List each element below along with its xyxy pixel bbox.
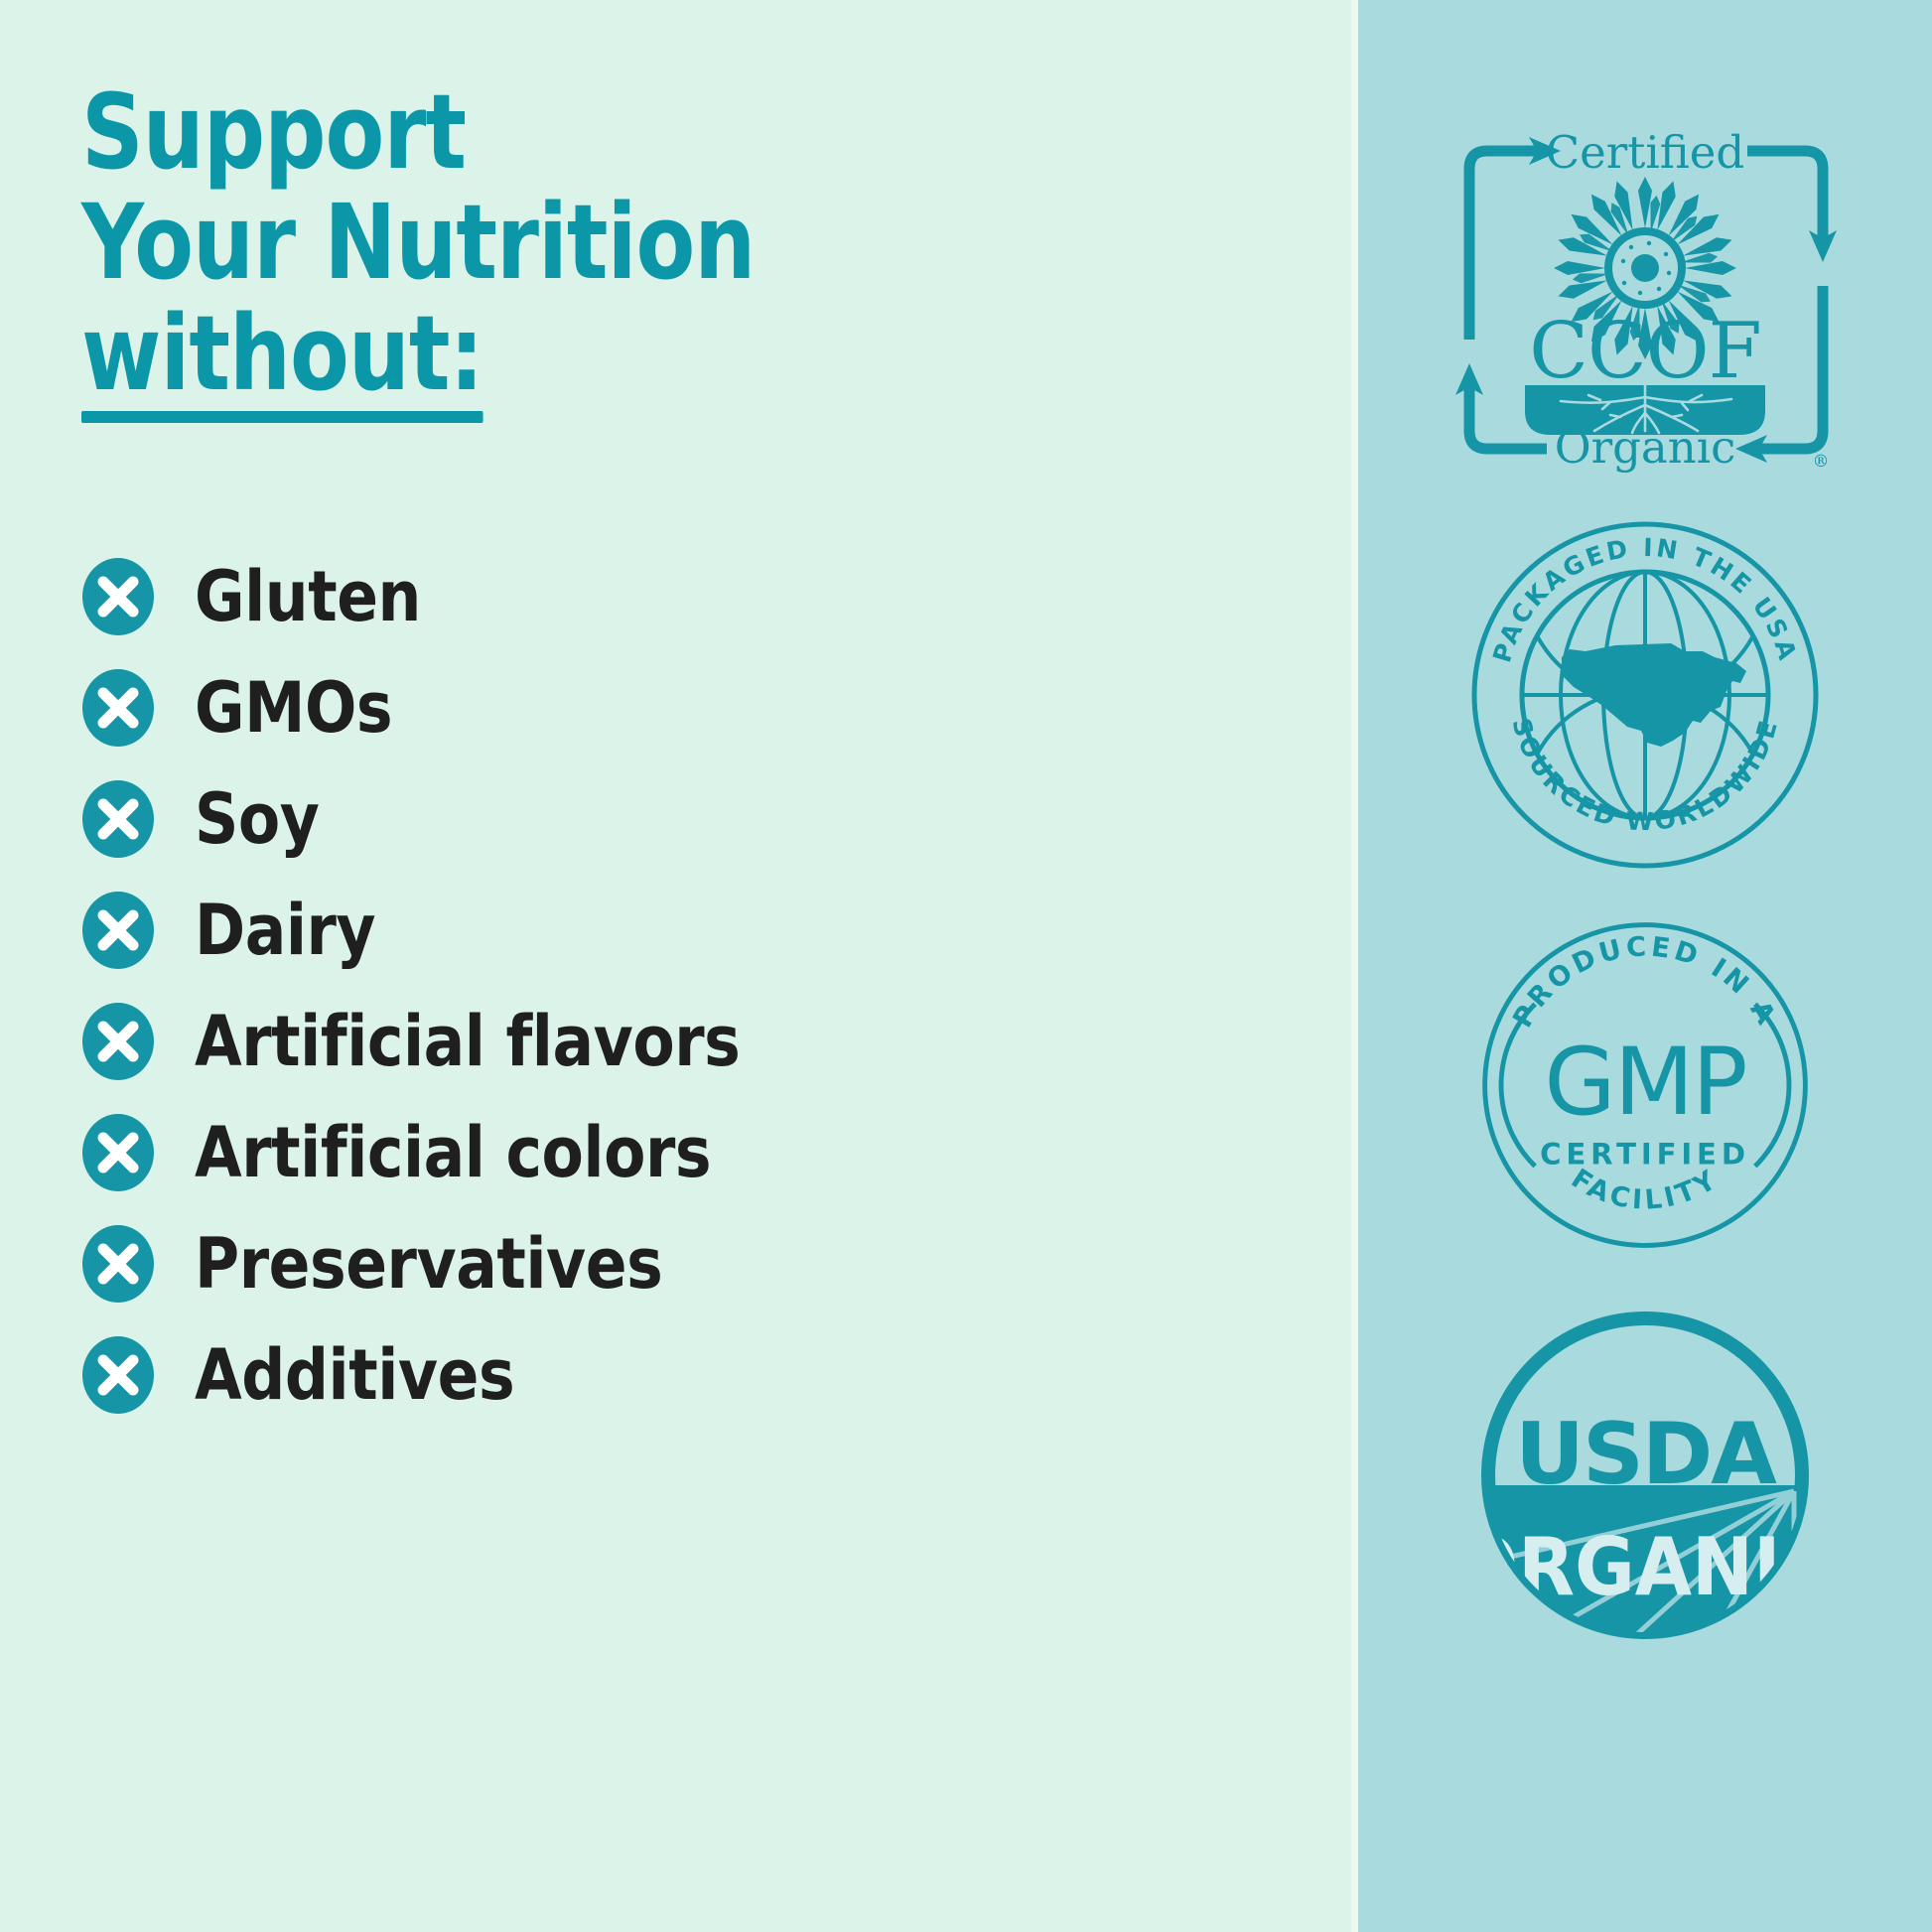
list-item: GMOs	[81, 667, 1357, 749]
page-title: Support Your Nutrition without:	[81, 77, 1051, 409]
gmp-certified-facility-badge: GMP CERTIFIED PRODUCED IN A FACILITY	[1451, 911, 1839, 1259]
svg-text:GMP: GMP	[1544, 1029, 1745, 1137]
headline-line-3: without:	[81, 299, 483, 409]
left-content-panel: Support Your Nutrition without: Gluten G…	[0, 0, 1357, 1932]
list-item-label: Additives	[195, 1340, 514, 1410]
list-item: Gluten	[81, 556, 1357, 637]
x-circle-icon	[81, 779, 155, 859]
panel-divider	[1351, 0, 1358, 1932]
list-item: Artificial flavors	[81, 1001, 1357, 1082]
list-item-label: Artificial flavors	[195, 1007, 740, 1076]
x-circle-icon	[81, 891, 155, 970]
list-item: Preservatives	[81, 1223, 1357, 1305]
x-circle-icon	[81, 1335, 155, 1415]
list-item-label: GMOs	[195, 673, 392, 743]
list-item: Artificial colors	[81, 1112, 1357, 1193]
svg-text:PRODUCED IN A: PRODUCED IN A	[1507, 931, 1783, 1033]
packaged-in-usa-globe-badge: PACKAGED IN THE USA SOURCED WORLDWIDE	[1451, 516, 1839, 874]
svg-text:CERTIFIED: CERTIFIED	[1540, 1138, 1750, 1172]
list-item-label: Dairy	[195, 896, 375, 965]
x-circle-icon	[81, 1113, 155, 1192]
x-circle-icon	[81, 668, 155, 748]
x-circle-icon	[81, 1224, 155, 1304]
certification-badges-panel: Certified	[1357, 0, 1932, 1932]
svg-text:Organic: Organic	[1554, 421, 1735, 474]
list-item: Dairy	[81, 890, 1357, 971]
x-circle-icon	[81, 1002, 155, 1081]
list-item-label: Artificial colors	[195, 1118, 711, 1187]
poster-root: Support Your Nutrition without: Gluten G…	[0, 0, 1932, 1932]
usda-organic-seal: ORGANIC USDA	[1451, 1297, 1839, 1654]
excluded-ingredients-list: Gluten GMOs Soy Dairy	[81, 556, 1357, 1416]
svg-text:USDA: USDA	[1515, 1405, 1777, 1504]
headline-line-2: Your Nutrition	[81, 188, 1051, 298]
list-item-label: Soy	[195, 784, 320, 854]
list-item-label: Gluten	[195, 562, 421, 631]
svg-text:®: ®	[1812, 452, 1829, 472]
list-item: Soy	[81, 778, 1357, 860]
x-circle-icon	[81, 557, 155, 636]
list-item-label: Preservatives	[195, 1229, 662, 1299]
ccof-certified-organic-badge: Certified	[1451, 52, 1839, 479]
svg-text:CCOF: CCOF	[1529, 307, 1760, 396]
svg-text:Certified: Certified	[1545, 126, 1744, 179]
headline-line-1: Support	[81, 77, 1051, 188]
list-item: Additives	[81, 1334, 1357, 1416]
